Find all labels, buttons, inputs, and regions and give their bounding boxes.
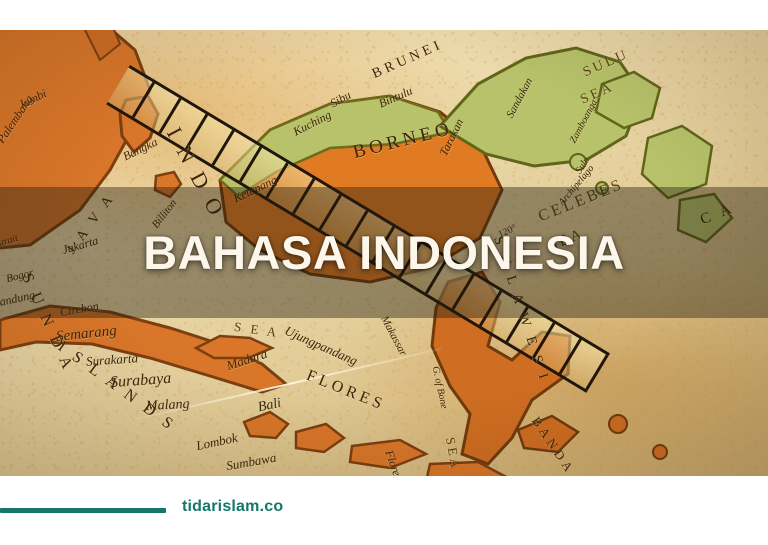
page-title: BAHASA INDONESIA [0, 187, 768, 318]
footer-brand-text: tidarislam.co [182, 498, 283, 516]
footer-bar: tidarislam.co [0, 476, 768, 545]
page-root: JambiPalembangBangkaBillitonKetapangKuch… [0, 0, 768, 545]
footer-accent-rule [0, 508, 166, 513]
